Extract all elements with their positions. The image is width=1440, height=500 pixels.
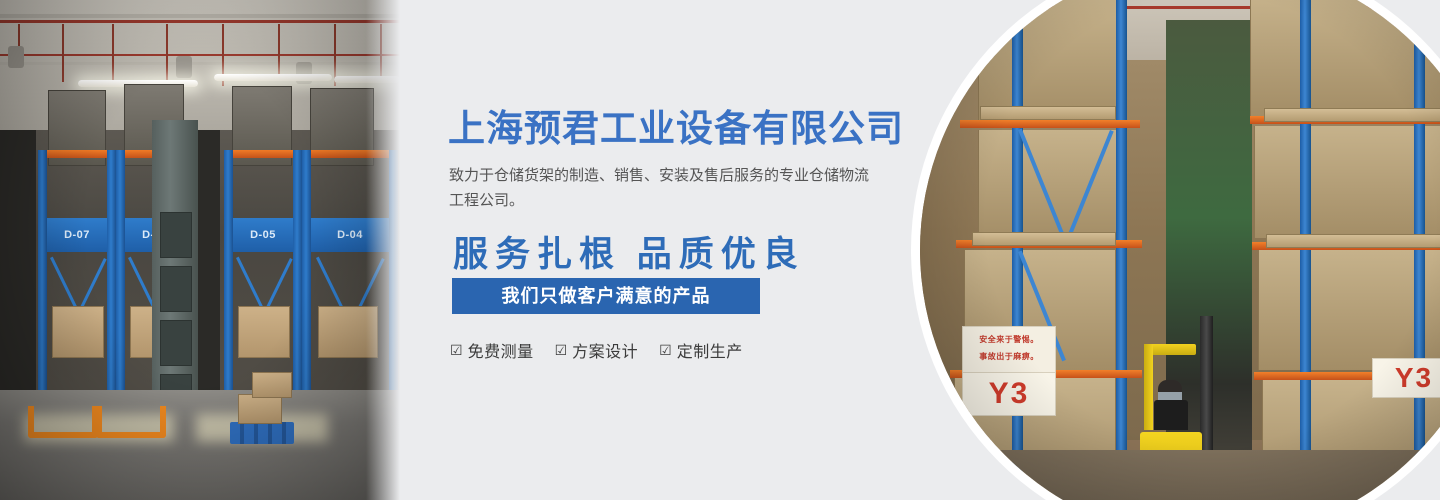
hero-banner: D-07 D-06 [0,0,1440,500]
company-subtitle: 致力于仓储货架的制造、销售、安装及售后服务的专业仓储物流工程公司。 [449,163,869,213]
check-icon: ☑ [555,343,568,357]
company-slogan: 服务扎根 品质优良 [453,226,805,277]
feature-list: ☑ 免费测量 ☑ 方案设计 ☑ 定制生产 [450,338,743,362]
check-icon: ☑ [450,343,463,357]
photo-vignette [920,0,1440,500]
feature-label: 定制生产 [677,338,743,362]
photo-vignette [0,0,400,500]
feature-label: 方案设计 [572,338,638,362]
photo-right-fade [366,0,400,500]
hero-text-block: 上海预君工业设备有限公司 致力于仓储货架的制造、销售、安装及售后服务的专业仓储物… [400,0,960,500]
feature-item-custom-production[interactable]: ☑ 定制生产 [659,338,743,362]
company-title: 上海预君工业设备有限公司 [448,98,904,152]
right-warehouse-photo: 安全来于警惕。 事故出于麻痹。 Y3 Y3 [920,0,1440,500]
feature-item-free-measure[interactable]: ☑ 免费测量 [450,338,534,362]
promise-badge-label: 我们只做客户满意的产品 [452,278,760,314]
feature-item-plan-design[interactable]: ☑ 方案设计 [555,338,639,362]
feature-label: 免费测量 [468,338,534,362]
left-warehouse-photo: D-07 D-06 [0,0,400,500]
promise-badge[interactable]: 我们只做客户满意的产品 [452,278,760,314]
circle-photo-mask: 安全来于警惕。 事故出于麻痹。 Y3 Y3 [920,0,1440,500]
check-icon: ☑ [659,343,672,357]
